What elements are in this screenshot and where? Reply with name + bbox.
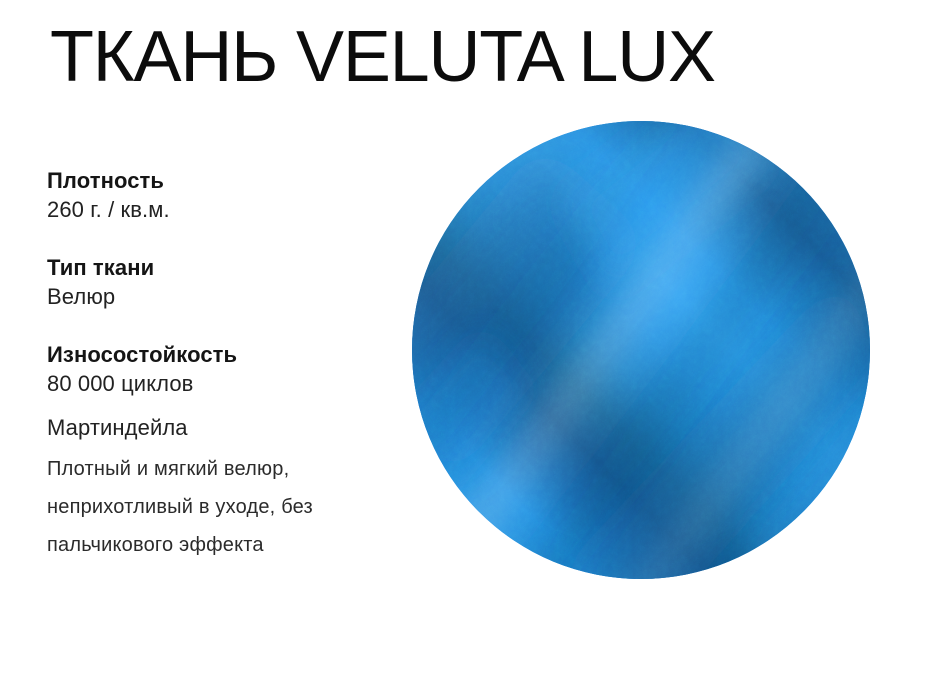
spec-label-fabric-type: Тип ткани	[47, 254, 407, 282]
fabric-spec-card: ТКАНЬ VELUTA LUX Плотность 260 г. / кв.м…	[0, 0, 934, 700]
spec-item-density: Плотность 260 г. / кв.м.	[47, 167, 407, 225]
fabric-swatch-image	[412, 121, 870, 579]
spec-value-durability-standard: Мартиндейла	[47, 413, 407, 443]
spec-list: Плотность 260 г. / кв.м. Тип ткани Велюр…	[47, 167, 407, 479]
spec-item-fabric-type: Тип ткани Велюр	[47, 254, 407, 312]
spec-item-durability: Износостойкость 80 000 циклов Мартиндейл…	[47, 341, 407, 443]
spec-value-fabric-type: Велюр	[47, 282, 407, 312]
fabric-swatch-circle	[412, 121, 870, 579]
page-title: ТКАНЬ VELUTA LUX	[50, 14, 715, 100]
spec-label-durability: Износостойкость	[47, 341, 407, 369]
fabric-description: Плотный и мягкий велюр, неприхотливый в …	[47, 450, 419, 564]
spec-value-density: 260 г. / кв.м.	[47, 195, 407, 225]
spec-value-durability-cycles: 80 000 циклов	[47, 369, 407, 399]
spec-label-density: Плотность	[47, 167, 407, 195]
